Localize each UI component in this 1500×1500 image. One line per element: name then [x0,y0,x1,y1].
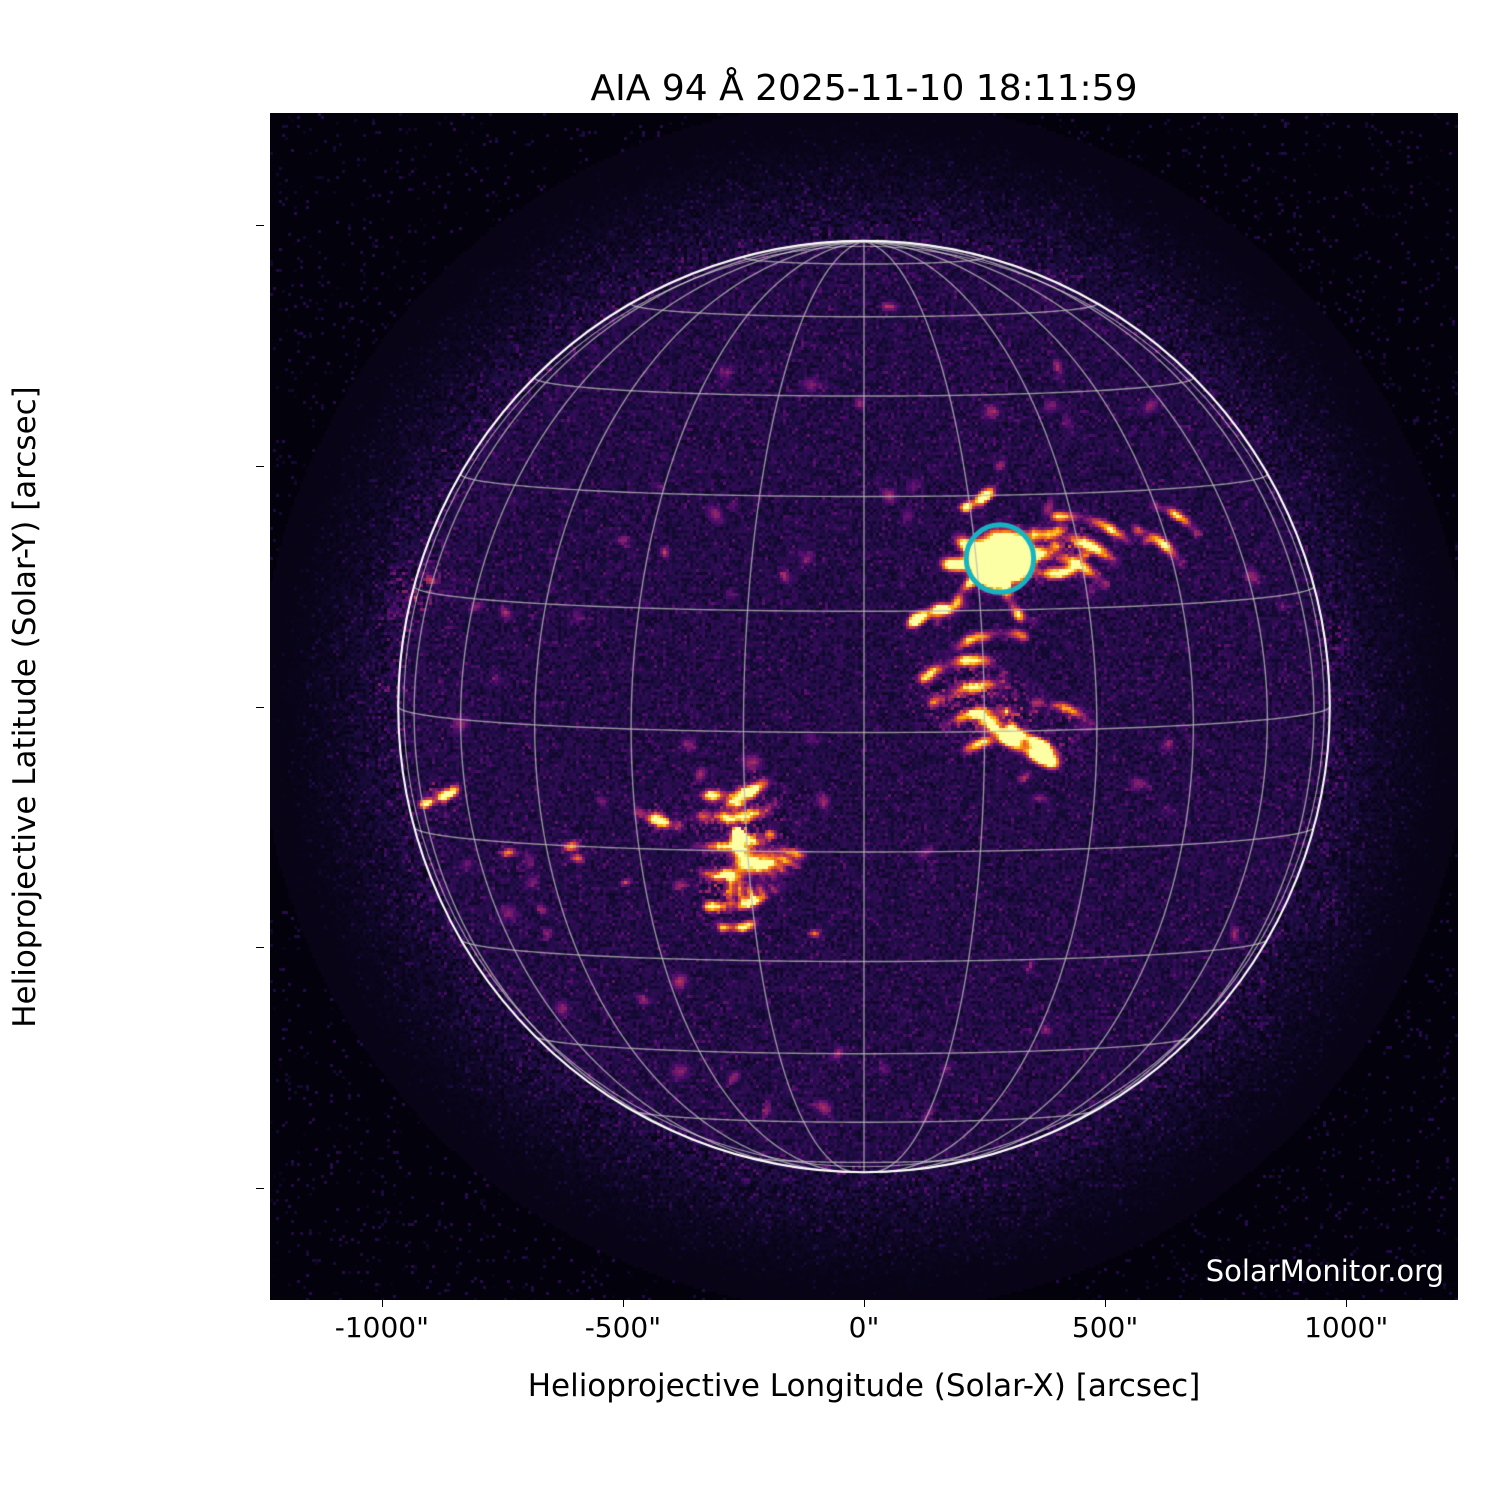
x-tick-mark [382,1300,383,1307]
y-tick-mark [256,466,264,467]
x-tick-mark [1105,1300,1106,1307]
y-axis-label: Helioprojective Latitude (Solar-Y) [arcs… [7,386,43,1028]
page-title: AIA 94 Å 2025-11-10 18:11:59 [270,68,1458,109]
solar-disk-image[interactable] [270,113,1458,1300]
solarmonitor-watermark: SolarMonitor.org [1206,1254,1444,1288]
x-tick-label: 0" [849,1311,880,1344]
y-tick-mark [256,1188,264,1189]
x-tick-label: -500" [585,1311,661,1344]
solar-image-figure: AIA 94 Å 2025-11-10 18:11:59 SolarMonito… [0,0,1500,1500]
x-tick-mark [1346,1300,1347,1307]
x-axis-label: Helioprojective Longitude (Solar-X) [arc… [270,1368,1458,1404]
x-tick-label: 1000" [1304,1311,1388,1344]
x-tick-label: 500" [1072,1311,1138,1344]
x-tick-label: -1000" [335,1311,429,1344]
y-axis-label-container: Helioprojective Latitude (Solar-Y) [arcs… [0,113,50,1300]
x-tick-mark [623,1300,624,1307]
y-tick-mark [256,947,264,948]
solar-image-plot-area[interactable]: SolarMonitor.org [270,113,1458,1300]
y-tick-mark [256,707,264,708]
x-tick-mark [864,1300,865,1307]
y-tick-mark [256,225,264,226]
